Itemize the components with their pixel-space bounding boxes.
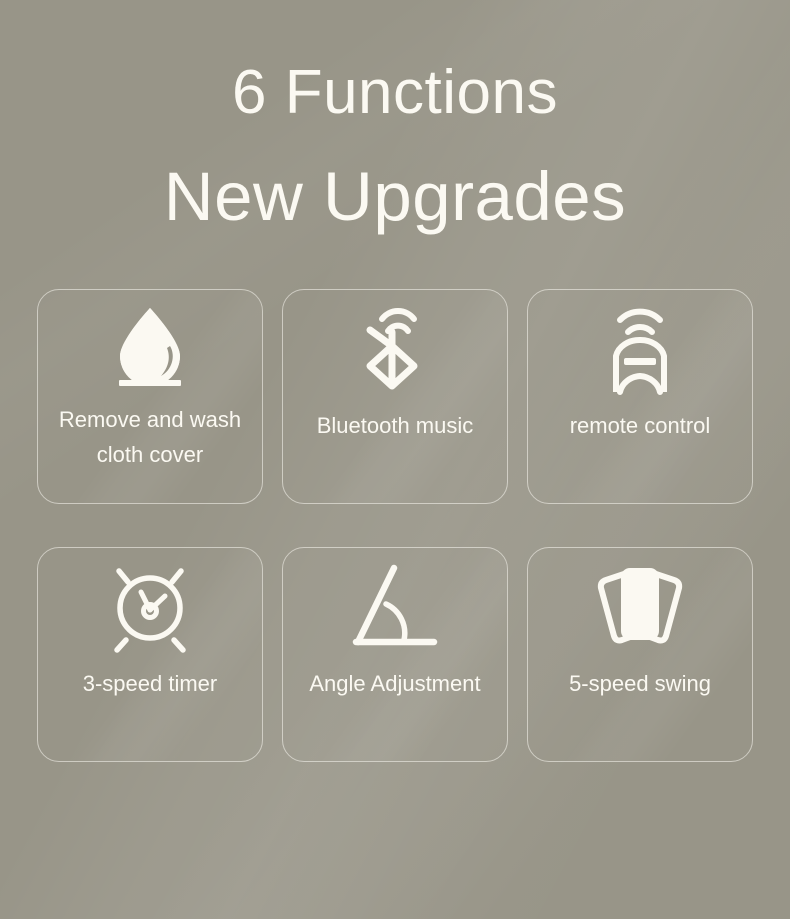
feature-label: Bluetooth music [311, 408, 480, 443]
feature-card-angle-adjustment[interactable]: Angle Adjustment [282, 547, 508, 762]
icon-container [283, 548, 507, 666]
page-subtitle: New Upgrades [0, 162, 790, 231]
feature-card-remote-control[interactable]: remote control [527, 289, 753, 504]
feature-card-timer[interactable]: 3-speed timer [37, 547, 263, 762]
feature-label: remote control [564, 408, 717, 443]
page-title: 6 Functions [0, 62, 790, 124]
feature-card-remove-and-wash[interactable]: Remove and wash cloth cover [37, 289, 263, 504]
icon-container [38, 290, 262, 402]
feature-label: Remove and wash cloth cover [53, 402, 247, 472]
alarm-clock-icon [103, 560, 197, 654]
headings-block: 6 Functions New Upgrades [0, 0, 790, 231]
swing-panels-icon [588, 562, 692, 652]
feature-card-swing[interactable]: 5-speed swing [527, 547, 753, 762]
icon-container [528, 290, 752, 408]
feature-label: Angle Adjustment [303, 666, 486, 701]
icon-container [283, 290, 507, 408]
feature-grid: Remove and wash cloth cover Bluetooth mu… [37, 289, 753, 762]
angle-icon [348, 560, 442, 654]
icon-container [38, 548, 262, 666]
feature-card-bluetooth-music[interactable]: Bluetooth music [282, 289, 508, 504]
remote-control-icon [594, 300, 686, 398]
feature-label: 5-speed swing [563, 666, 717, 701]
icon-container [528, 548, 752, 666]
feature-label: 3-speed timer [77, 666, 224, 701]
bluetooth-icon [349, 300, 441, 398]
water-droplet-icon [104, 300, 196, 392]
promo-banner: 6 Functions New Upgrades Remove and wash… [0, 0, 790, 919]
